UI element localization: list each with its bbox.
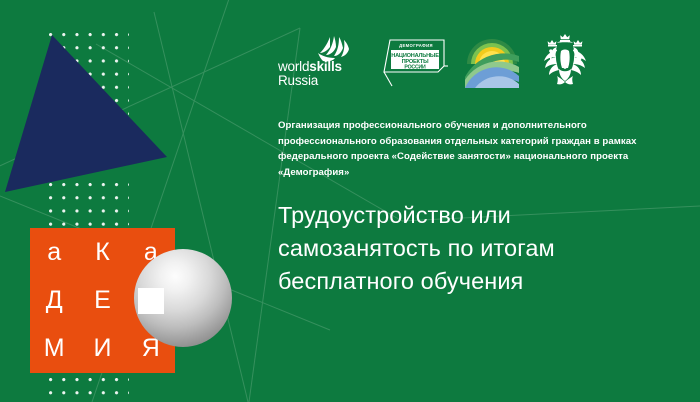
logo-national-projects: ДЕМОГРАФИЯ НАЦИОНАЛЬНЫЕ ПРОЕКТЫ РОССИИ xyxy=(382,36,448,88)
navy-triangle-shape xyxy=(0,0,260,240)
headline-line-1: Трудоустройство или xyxy=(278,199,678,232)
worldskills-world-text: world xyxy=(278,59,309,74)
promo-banner: а к а д е м и я xyxy=(0,0,700,402)
dot-grid-bottom xyxy=(49,378,129,402)
worldskills-wordmark: worldskills Russia xyxy=(278,60,342,88)
akademiya-letter-3: д xyxy=(46,288,63,313)
logo-worldskills-russia: worldskills Russia xyxy=(278,36,360,88)
akademiya-letter-7: и xyxy=(94,336,112,361)
worldskills-russia-text: Russia xyxy=(278,74,342,88)
white-square-accent xyxy=(138,288,164,314)
logo-coat-of-arms xyxy=(539,32,591,88)
akademiya-letter-6: м xyxy=(44,336,65,361)
logo-agriculture-fields xyxy=(465,34,519,88)
natproject-line3-text: РОССИИ xyxy=(404,64,426,70)
natproject-kicker-text: ДЕМОГРАФИЯ xyxy=(399,43,433,48)
program-description: Организация профессионального обучения и… xyxy=(278,118,678,182)
akademiya-letter-4: е xyxy=(94,288,111,313)
content-column: worldskills Russia ДЕМОГРАФИЯ НАЦИОНАЛЬН… xyxy=(278,0,688,402)
national-projects-icon: ДЕМОГРАФИЯ НАЦИОНАЛЬНЫЕ ПРОЕКТЫ РОССИИ xyxy=(382,36,448,88)
headline-line-3: бесплатного обучения xyxy=(278,265,678,298)
logo-row: worldskills Russia ДЕМОГРАФИЯ НАЦИОНАЛЬН… xyxy=(278,30,591,88)
fields-sun-arcs-icon xyxy=(465,34,519,88)
double-headed-eagle-icon xyxy=(539,32,591,88)
worldskills-skills-text: skills xyxy=(309,59,342,74)
headline: Трудоустройство или самозанятость по ито… xyxy=(278,199,678,299)
akademiya-letter-1: к xyxy=(95,240,110,265)
headline-line-2: самозанятость по итогам xyxy=(278,232,678,265)
akademiya-letter-0: а xyxy=(47,240,61,265)
